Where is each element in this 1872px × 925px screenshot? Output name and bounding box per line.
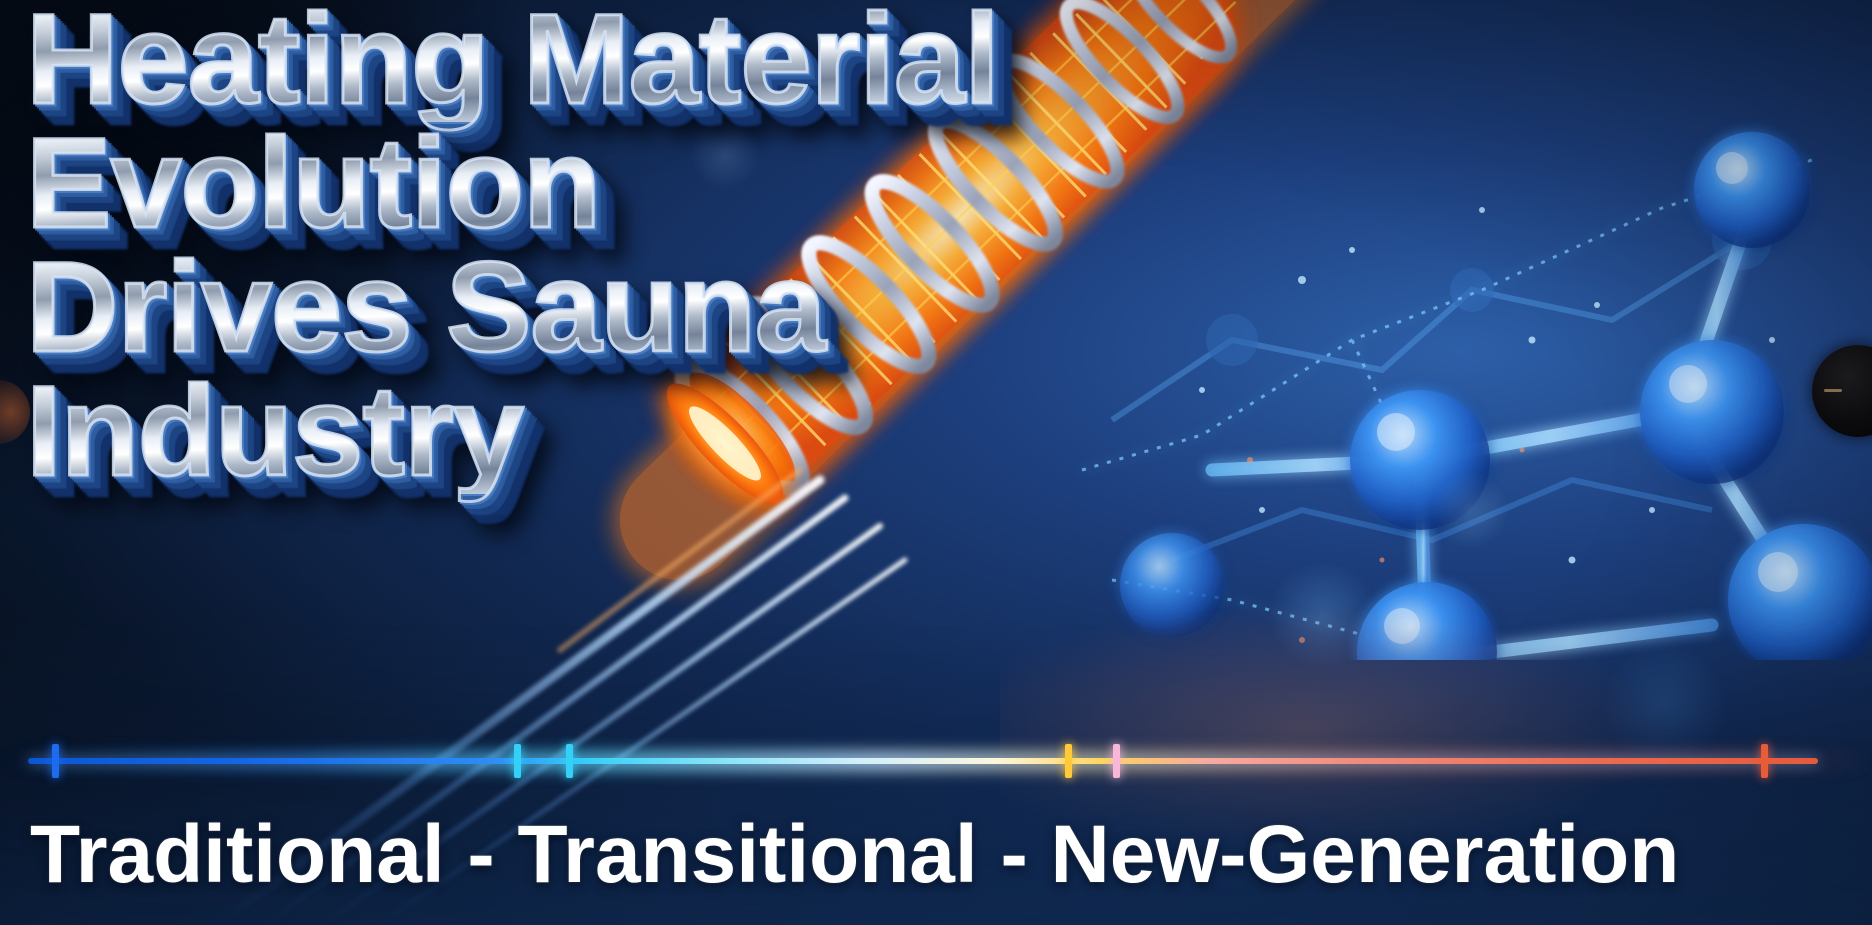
timeline-bar: [28, 758, 1818, 764]
hero-banner: Heating Material Evolution Drives Sauna …: [0, 0, 1872, 925]
timeline-tick-start-traditional: [52, 744, 59, 778]
timeline-tick-end-traditional: [514, 744, 521, 778]
timeline-tick-end-newgen: [1761, 744, 1768, 778]
timeline-tick-end-transitional: [1065, 744, 1072, 778]
timeline-tick-start-transitional: [566, 744, 573, 778]
title-line-2: Evolution: [26, 122, 1126, 246]
right-edge-control-mark: [1824, 389, 1842, 392]
timeline-tick-start-newgen: [1113, 744, 1120, 778]
title-line-1: Heating Material: [26, 0, 1126, 122]
evolution-timeline: [0, 742, 1872, 782]
page-title: Heating Material Evolution Drives Sauna …: [26, 0, 1126, 494]
timeline-caption: Traditional - Transitional - New-Generat…: [30, 812, 1850, 898]
title-line-4: Industry: [26, 370, 1126, 494]
title-line-3: Drives Sauna: [26, 246, 1126, 370]
